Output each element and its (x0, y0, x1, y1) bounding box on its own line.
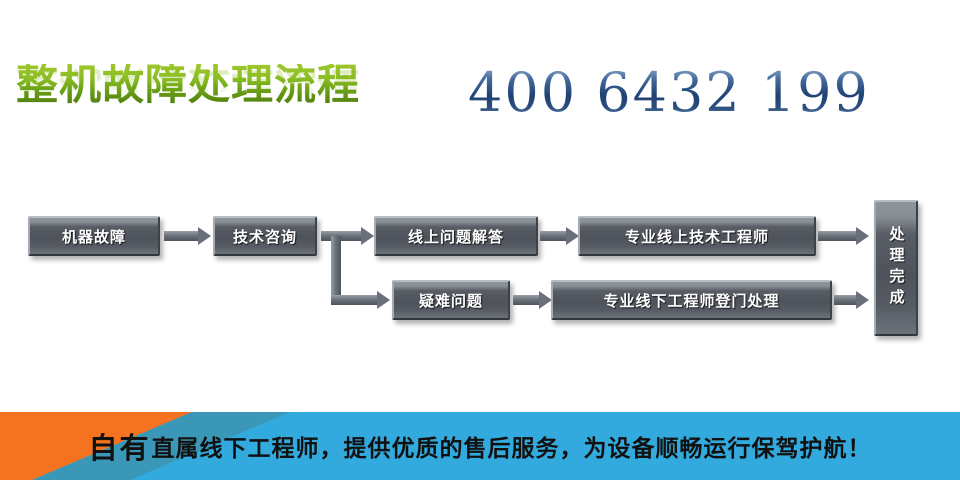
flow-node-difficult-problem[interactable]: 疑难问题 (392, 280, 510, 320)
flow-node-process-complete[interactable]: 处理完成 (874, 200, 918, 336)
connector-online-engineer-to-complete (818, 231, 860, 241)
arrowhead-consult-to-online-qa (361, 227, 374, 245)
bottom-slogan-banner: 自有 直属线下工程师，提供优质的售后服务，为设备顺畅运行保驾护航！ (0, 412, 960, 480)
banner-slogan-body: 直属线下工程师，提供优质的售后服务，为设备顺畅运行保驾护航！ (152, 429, 872, 463)
flow-node-onsite-engineer[interactable]: 专业线下工程师登门处理 (551, 280, 832, 320)
flow-node-technical-consult[interactable]: 技术咨询 (213, 216, 317, 256)
connector-consult-branch-bottom (331, 295, 379, 305)
fault-handling-flowchart: 机器故障 技术咨询 线上问题解答 专业线上技术工程师 疑难问题 专业线下工程师登… (0, 180, 960, 370)
banner-slogan-lead: 自有 (88, 425, 150, 467)
hotline-phone-number: 400 6432 199 (468, 66, 870, 120)
flow-node-machine-fault[interactable]: 机器故障 (28, 216, 160, 256)
connector-machine-fault-to-consult (164, 231, 200, 241)
flow-node-online-qa[interactable]: 线上问题解答 (374, 216, 538, 256)
arrowhead-onsite-to-complete (856, 291, 869, 309)
flow-node-online-engineer[interactable]: 专业线上技术工程师 (578, 216, 816, 256)
poster-canvas: 整机故障处理流程 整机故障处理流程 400 6432 199 机器故障 技术咨询… (0, 0, 960, 480)
arrowhead-consult-to-difficult-problem (377, 291, 390, 309)
connector-consult-branch-top (321, 231, 363, 241)
banner-slogan: 自有 直属线下工程师，提供优质的售后服务，为设备顺畅运行保驾护航！ (0, 412, 960, 480)
arrowhead-online-engineer-to-complete (856, 227, 869, 245)
arrowhead-machine-fault-to-consult (198, 227, 211, 245)
page-title: 整机故障处理流程 (16, 64, 360, 106)
